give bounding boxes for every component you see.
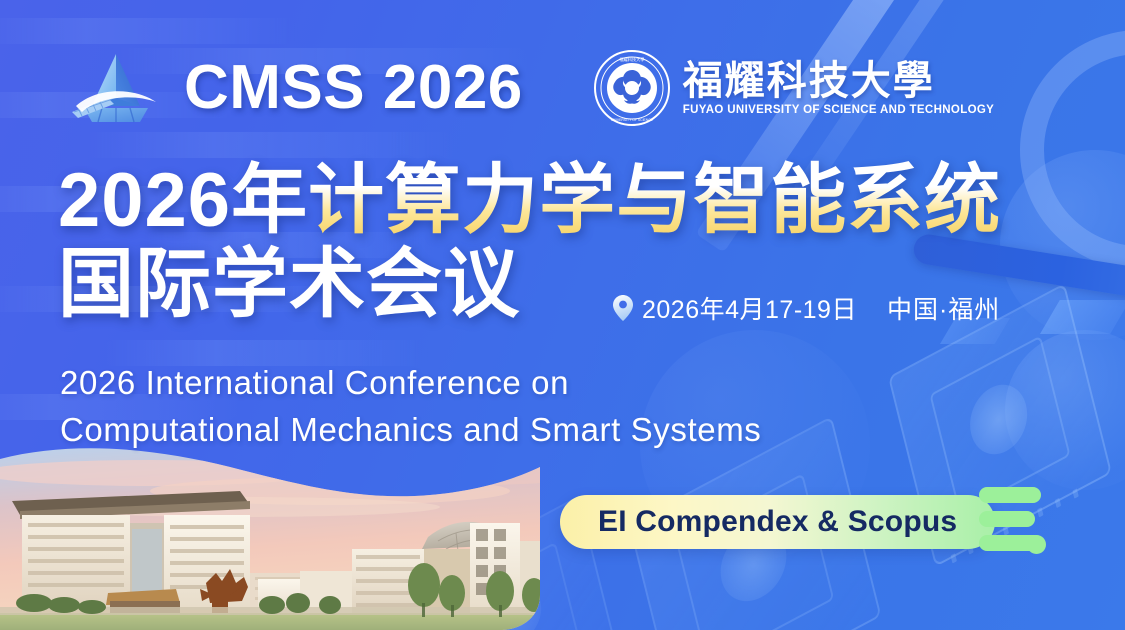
indexing-badge-wrap: EI Compendex & Scopus (560, 483, 1053, 561)
cmss-triangle-logo-icon (62, 46, 170, 130)
svg-text:福耀科技大學: 福耀科技大學 (619, 56, 644, 63)
seal-svg: 福耀科技大學 UNIVERSITY OF SCIENCE (593, 49, 671, 127)
university-name-cn: 福耀科技大學 (683, 61, 994, 101)
event-location: 中国·福州 (887, 290, 1000, 326)
conference-banner: CMSS 2026 福耀科技大學 (0, 0, 1125, 630)
subtitle-line-1: 2026 International Conference on (60, 360, 761, 407)
svg-text:UNIVERSITY OF SCIENCE: UNIVERSITY OF SCIENCE (611, 118, 654, 122)
indexing-badge: EI Compendex & Scopus (560, 495, 995, 549)
conference-subtitle-en: 2026 International Conference on Computa… (60, 360, 761, 454)
pin-svg (612, 294, 634, 322)
title-year: 2026年 (58, 158, 308, 243)
banner-header: CMSS 2026 福耀科技大學 (62, 46, 994, 130)
university-name-en: FUYAO UNIVERSITY OF SCIENCE AND TECHNOLO… (683, 104, 994, 116)
event-meta: 2026年4月17-19日 中国·福州 (612, 290, 1000, 326)
campus-photo-svg (0, 445, 560, 630)
location-pin-icon (612, 294, 634, 322)
title-line-1: 2026年计算力学与智能系统 (58, 162, 1001, 240)
title-topic: 计算力学与智能系统 (308, 158, 1001, 243)
fuyao-campus-photo (0, 445, 560, 630)
cmss-logo-svg (62, 46, 170, 130)
event-date: 2026年4月17-19日 (642, 290, 857, 326)
subtitle-line-2: Computational Mechanics and Smart System… (60, 407, 761, 454)
green-bars-dot-mark-icon (981, 483, 1053, 561)
indexing-badge-label: EI Compendex & Scopus (598, 505, 957, 539)
fuyao-university-seal-icon: 福耀科技大學 UNIVERSITY OF SCIENCE (593, 49, 671, 127)
cmss-acronym-title: CMSS 2026 (184, 57, 523, 119)
university-name-block: 福耀科技大學 FUYAO UNIVERSITY OF SCIENCE AND T… (683, 61, 994, 116)
university-branding: 福耀科技大學 UNIVERSITY OF SCIENCE 福耀科技大學 FUYA… (593, 49, 994, 127)
